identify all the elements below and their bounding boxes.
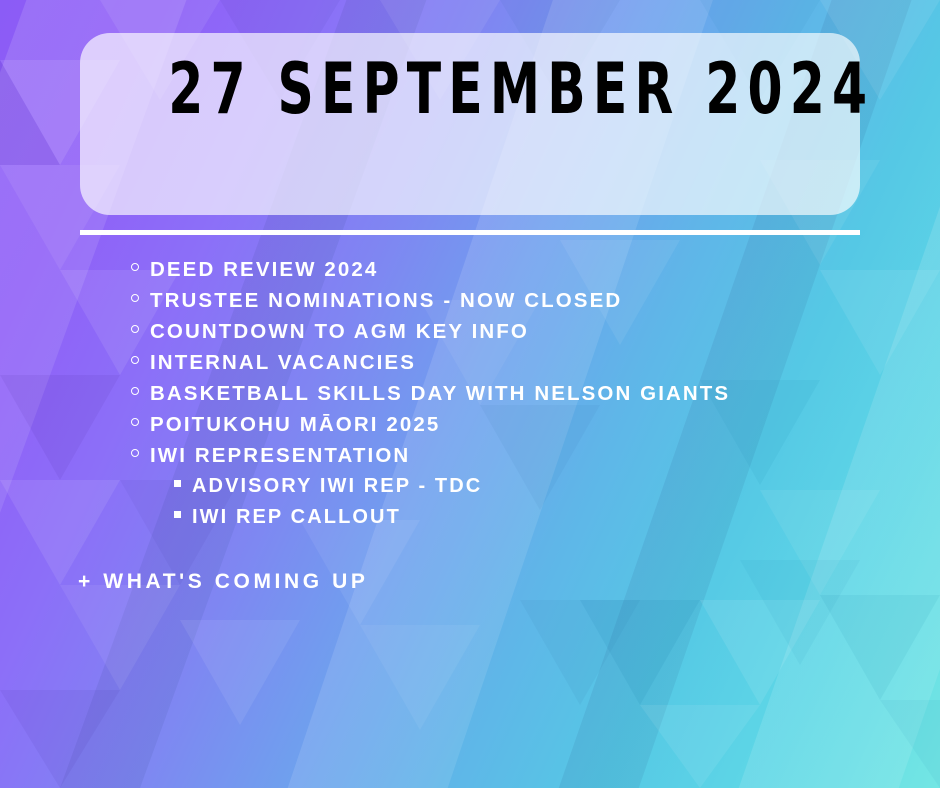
circle-outline-bullet-icon — [131, 356, 139, 364]
list-item: POITUKOHU MĀORI 2025 — [0, 413, 940, 444]
list-item: COUNTDOWN TO AGM KEY INFO — [0, 320, 940, 351]
page-title: 27 SEPTEMBER 2024 — [80, 89, 860, 159]
circle-outline-bullet-icon — [131, 418, 139, 426]
list-item-label: ADVISORY IWI REP - TDC — [192, 475, 482, 498]
agenda-list: DEED REVIEW 2024 TRUSTEE NOMINATIONS - N… — [0, 258, 940, 537]
list-item: BASKETBALL SKILLS DAY WITH NELSON GIANTS — [0, 382, 940, 413]
list-item-label: BASKETBALL SKILLS DAY WITH NELSON GIANTS — [150, 382, 730, 406]
list-item-label: DEED REVIEW 2024 — [150, 258, 378, 282]
square-filled-bullet-icon — [174, 480, 181, 487]
coming-up-label: + WHAT'S COMING UP — [78, 570, 369, 594]
square-filled-bullet-icon — [174, 511, 181, 518]
list-item: DEED REVIEW 2024 — [0, 258, 940, 289]
list-item: IWI REPRESENTATION — [0, 444, 940, 475]
circle-outline-bullet-icon — [131, 325, 139, 333]
page-title-text: 27 SEPTEMBER 2024 — [168, 54, 874, 124]
circle-outline-bullet-icon — [131, 387, 139, 395]
circle-outline-bullet-icon — [131, 294, 139, 302]
list-item-label: COUNTDOWN TO AGM KEY INFO — [150, 320, 529, 344]
list-item-label: IWI REP CALLOUT — [192, 506, 401, 529]
circle-outline-bullet-icon — [131, 263, 139, 271]
list-item: IWI REP CALLOUT — [0, 506, 940, 537]
list-item-label: POITUKOHU MĀORI 2025 — [150, 413, 440, 437]
slide-canvas: 27 SEPTEMBER 2024 DEED REVIEW 2024 TRUST… — [0, 0, 940, 788]
circle-outline-bullet-icon — [131, 449, 139, 457]
list-item: ADVISORY IWI REP - TDC — [0, 475, 940, 506]
list-item: INTERNAL VACANCIES — [0, 351, 940, 382]
horizontal-divider — [80, 230, 860, 235]
date-title-card: 27 SEPTEMBER 2024 — [80, 33, 860, 215]
list-item-label: IWI REPRESENTATION — [150, 444, 410, 468]
list-item: TRUSTEE NOMINATIONS - NOW CLOSED — [0, 289, 940, 320]
list-item-label: INTERNAL VACANCIES — [150, 351, 416, 375]
list-item-label: TRUSTEE NOMINATIONS - NOW CLOSED — [150, 289, 622, 313]
